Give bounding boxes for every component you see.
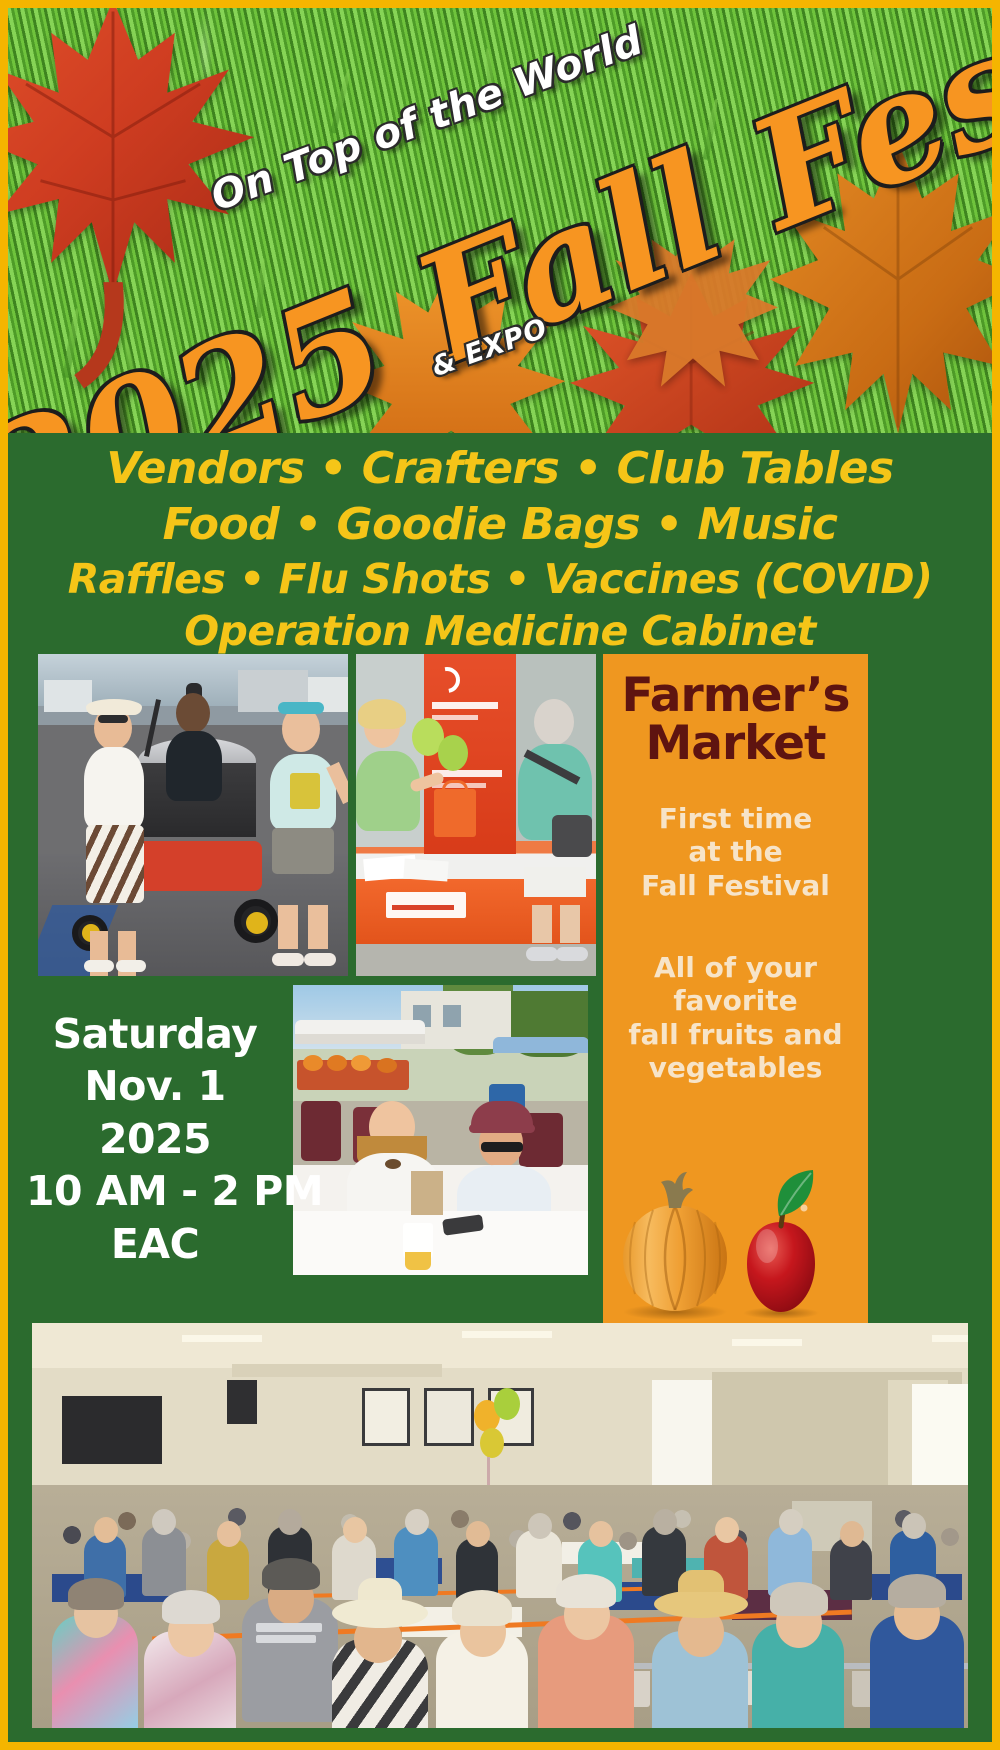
event-day: Saturday bbox=[26, 1008, 284, 1060]
outdoor-market-photo bbox=[293, 985, 588, 1275]
farmers-market-sub-line1: First time bbox=[615, 802, 856, 836]
event-venue: EAC bbox=[26, 1218, 284, 1270]
orange-leaf-icon bbox=[608, 218, 778, 408]
grass-tuft bbox=[703, 98, 720, 160]
red-maple-leaf-icon bbox=[8, 8, 258, 410]
farmers-market-subtext-2: All of your favorite fall fruits and veg… bbox=[615, 951, 856, 1085]
poster-body: Vendors • Crafters • Club Tables Food • … bbox=[8, 433, 992, 1742]
event-time: 10 AM - 2 PM bbox=[26, 1165, 284, 1217]
produce-graphic bbox=[603, 1170, 868, 1320]
farmers-market-title: Farmer’s Market bbox=[615, 672, 856, 768]
vendor-booth-photo bbox=[356, 654, 596, 976]
poster-bottom-border bbox=[8, 1742, 992, 1750]
grass-tuft bbox=[870, 48, 893, 117]
features-line-4: Operation Medicine Cabinet bbox=[8, 605, 992, 657]
features-line-1: Vendors • Crafters • Club Tables bbox=[8, 441, 992, 497]
farmers-market-sub2-line3: fall fruits and bbox=[615, 1018, 856, 1052]
event-details: Saturday Nov. 1 2025 10 AM - 2 PM EAC bbox=[26, 1008, 284, 1270]
hero-tagline: On Top of the World bbox=[205, 17, 649, 220]
grass-tuft bbox=[484, 48, 498, 122]
event-date: Nov. 1 bbox=[26, 1060, 284, 1112]
event-year: 2025 bbox=[26, 1113, 284, 1165]
farmers-market-title-line1: Farmer’s bbox=[615, 672, 856, 720]
farmers-market-sub-line3: Fall Festival bbox=[615, 869, 856, 903]
orange-leaf-icon bbox=[338, 263, 568, 433]
farmers-market-sub-line2: at the bbox=[615, 835, 856, 869]
farmers-market-panel: Farmer’s Market First time at the Fall F… bbox=[603, 654, 868, 1328]
farmers-market-sub2-line4: vegetables bbox=[615, 1051, 856, 1085]
farmers-market-sub2-line2: favorite bbox=[615, 984, 856, 1018]
orange-leaf-icon bbox=[768, 138, 992, 433]
grass-tuft bbox=[330, 68, 352, 133]
farmers-market-sub2-line1: All of your bbox=[615, 951, 856, 985]
farmers-market-title-line2: Market bbox=[615, 720, 856, 768]
features-list: Vendors • Crafters • Club Tables Food • … bbox=[8, 441, 992, 657]
features-line-2: Food • Goodie Bags • Music bbox=[8, 497, 992, 553]
fall-festival-poster: On Top of the World 2025 Fall Festival &… bbox=[0, 0, 1000, 1750]
expo-hall-crowd-photo bbox=[32, 1323, 968, 1728]
steel-drum-band-photo bbox=[38, 654, 348, 976]
hero-banner: On Top of the World 2025 Fall Festival &… bbox=[8, 8, 992, 433]
features-line-3: Raffles • Flu Shots • Vaccines (COVID) bbox=[8, 553, 992, 605]
farmers-market-subtext: First time at the Fall Festival bbox=[615, 802, 856, 903]
